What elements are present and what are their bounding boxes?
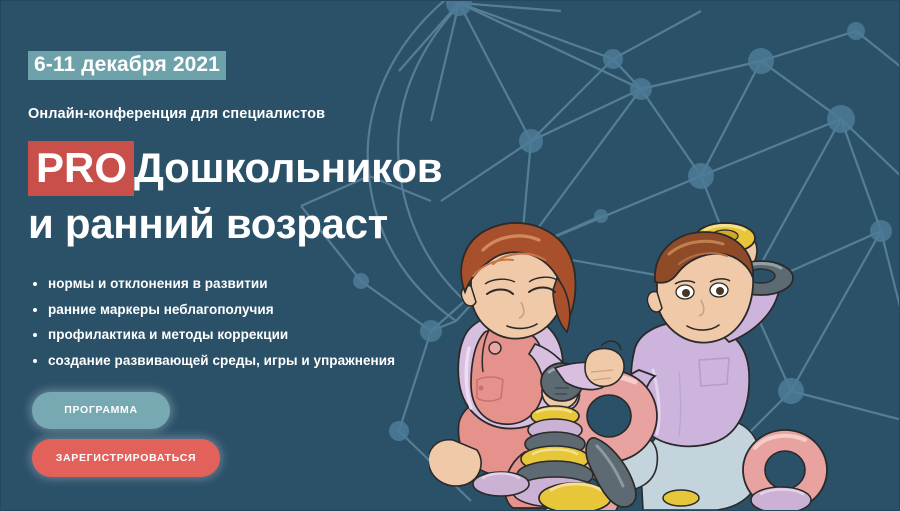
title-line-2: и ранний возраст	[28, 200, 388, 247]
banner-content: 6-11 декабря 2021 Онлайн-конференция для…	[28, 51, 498, 477]
list-item-label: ранние маркеры неблагополучия	[48, 302, 274, 317]
list-item: создание развивающей среды, игры и упраж…	[28, 353, 498, 368]
conference-banner: 6-11 декабря 2021 Онлайн-конференция для…	[0, 0, 900, 511]
subtitle: Онлайн-конференция для специалистов	[28, 106, 498, 122]
pro-tag: PRO	[28, 141, 134, 196]
list-item-label: нормы и отклонения в развитии	[48, 276, 268, 291]
list-item: ранние маркеры неблагополучия	[28, 302, 498, 317]
title-line-1: Дошкольников	[134, 144, 442, 191]
program-button[interactable]: ПРОГРАММА	[32, 392, 170, 429]
bullet-dot-icon	[33, 308, 37, 312]
list-item: нормы и отклонения в развитии	[28, 276, 498, 291]
list-item-label: создание развивающей среды, игры и упраж…	[48, 353, 395, 368]
bullet-dot-icon	[33, 282, 37, 286]
date-badge: 6-11 декабря 2021	[28, 51, 226, 80]
bullet-dot-icon	[33, 333, 37, 337]
list-item-label: профилактика и методы коррекции	[48, 327, 288, 342]
page-title: PROДошкольников и ранний возраст	[28, 141, 498, 247]
cta-button-group: ПРОГРАММА ЗАРЕГИСТРИРОВАТЬСЯ	[28, 392, 498, 477]
list-item: профилактика и методы коррекции	[28, 327, 498, 342]
toddlers-illustration	[429, 220, 899, 510]
bullet-dot-icon	[33, 359, 37, 363]
topics-list: нормы и отклонения в развитии ранние мар…	[28, 276, 498, 368]
register-button[interactable]: ЗАРЕГИСТРИРОВАТЬСЯ	[32, 439, 220, 477]
